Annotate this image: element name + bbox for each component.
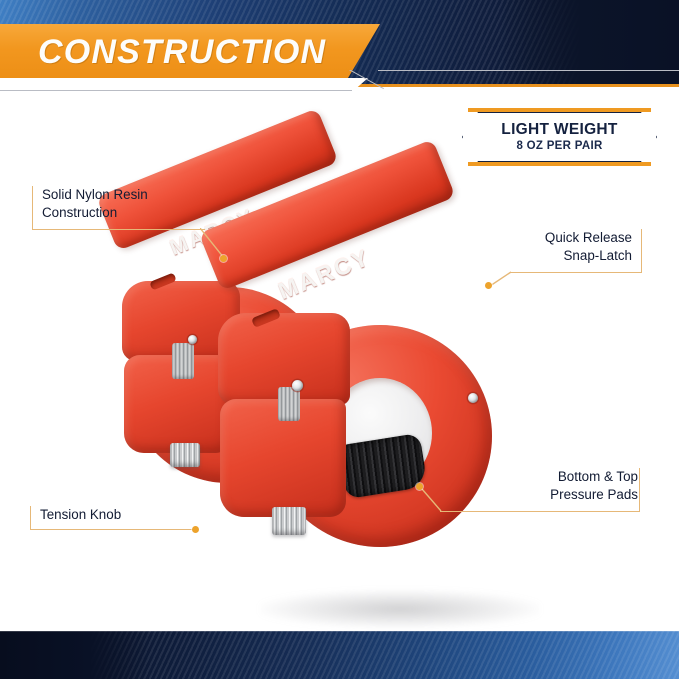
callout-line-2: Pressure Pads [440, 486, 638, 504]
callout-line-2: Construction [42, 204, 148, 222]
page-title: CONSTRUCTION [38, 27, 378, 77]
callout-3-leader-diagonal [418, 485, 444, 515]
light-weight-badge: LIGHT WEIGHT 8 OZ PER PAIR [462, 108, 657, 166]
rear-tension-knob [170, 443, 200, 467]
callout-quick-release-snap-latch: Quick Release Snap-Latch [432, 229, 632, 265]
callout-1-leader-vertical [32, 186, 33, 230]
product-shadow [260, 590, 540, 628]
callout-bottom-top-pressure-pads: Bottom & Top Pressure Pads [440, 468, 638, 504]
callout-tension-knob: Tension Knob [40, 506, 121, 524]
rear-pivot-pin [188, 335, 197, 344]
callout-2-dot [485, 282, 492, 289]
callout-2-leader-horizontal [510, 272, 642, 273]
callout-3-leader-horizontal [440, 511, 640, 512]
callout-2-leader-vertical [641, 229, 642, 273]
callout-line-1: Tension Knob [40, 506, 121, 524]
badge-subtitle: 8 OZ PER PAIR [462, 140, 657, 152]
callout-4-leader-vertical [30, 506, 31, 530]
callout-line-1: Quick Release [432, 229, 632, 247]
callout-line-1: Solid Nylon Resin [42, 186, 148, 204]
rear-screw [172, 343, 194, 379]
callout-line-2: Snap-Latch [432, 247, 632, 265]
badge-bar-top [468, 108, 651, 112]
callout-line-1: Bottom & Top [440, 468, 638, 486]
front-pivot-pin [292, 380, 303, 391]
front-screw [278, 387, 300, 421]
top-band-sheen [499, 0, 679, 86]
header-divider-diagonal [344, 70, 384, 92]
header-divider-left [0, 90, 352, 91]
header-divider-right [378, 70, 679, 71]
callout-3-leader-vertical [639, 468, 640, 512]
callout-4-dot [192, 526, 199, 533]
bottom-band-dark-corner [0, 631, 150, 679]
callout-4-leader-horizontal [30, 529, 196, 530]
callout-1-leader-horizontal [32, 229, 205, 230]
infographic-page: CONSTRUCTION LIGHT WEIGHT 8 OZ PER PAIR [0, 0, 679, 679]
callout-solid-nylon-resin: Solid Nylon Resin Construction [42, 186, 148, 222]
callout-1-dot [220, 255, 227, 262]
badge-bar-bottom [468, 162, 651, 166]
front-side-pin [468, 393, 478, 403]
bottom-band-top-rule [0, 631, 679, 633]
badge-title: LIGHT WEIGHT [462, 121, 657, 139]
callout-3-dot [416, 483, 423, 490]
front-tension-knob [272, 507, 306, 535]
